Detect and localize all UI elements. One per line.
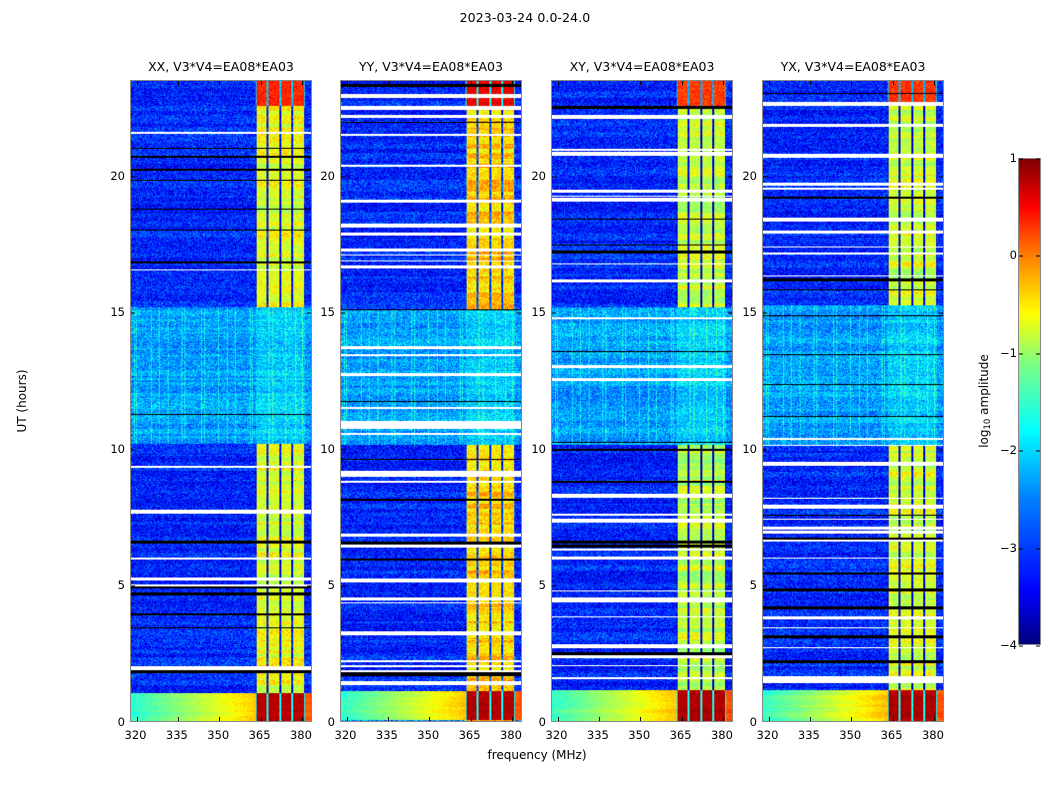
x-tick-mark xyxy=(219,717,220,721)
y-tick-label: 5 xyxy=(328,578,335,592)
colorbar-tick-mark xyxy=(1019,159,1023,160)
x-tick-mark xyxy=(347,81,348,85)
panel-yy[interactable]: YY, V3*V4=EA08*EA03 05101520320335350365… xyxy=(340,80,522,722)
colorbar-gradient xyxy=(1018,158,1041,645)
panel-yx[interactable]: YX, V3*V4=EA08*EA03 05101520320335350365… xyxy=(762,80,944,722)
x-tick-mark xyxy=(302,717,303,721)
y-tick-mark xyxy=(517,313,521,314)
colorbar-tick-mark xyxy=(1036,353,1040,354)
y-tick-mark xyxy=(131,449,135,450)
y-tick-mark xyxy=(341,313,345,314)
y-tick-label: 0 xyxy=(328,715,335,729)
x-tick-mark xyxy=(261,81,262,85)
x-tick-mark xyxy=(512,81,513,85)
x-tick-mark xyxy=(893,81,894,85)
panel-xx[interactable]: XX, V3*V4=EA08*EA03 05101520320335350365… xyxy=(130,80,312,722)
x-tick-mark xyxy=(219,81,220,85)
y-tick-label: 20 xyxy=(742,169,757,183)
x-tick-mark xyxy=(851,717,852,721)
x-tick-mark xyxy=(723,81,724,85)
x-tick-mark xyxy=(599,81,600,85)
x-tick-label: 335 xyxy=(376,728,398,742)
colorbar-tick-mark xyxy=(1036,451,1040,452)
x-tick-mark xyxy=(429,717,430,721)
y-tick-mark xyxy=(131,176,135,177)
colorbar-tick-mark xyxy=(1019,353,1023,354)
axes-xy[interactable] xyxy=(551,80,733,722)
heatmap-image-yy xyxy=(341,81,521,721)
x-tick-mark xyxy=(429,81,430,85)
panel-title-xy: XY, V3*V4=EA08*EA03 xyxy=(551,59,733,74)
y-tick-label: 15 xyxy=(531,305,546,319)
y-tick-label: 5 xyxy=(118,578,125,592)
y-tick-label: 5 xyxy=(539,578,546,592)
y-tick-mark xyxy=(728,449,732,450)
x-tick-mark xyxy=(682,717,683,721)
colorbar[interactable]: 10−1−2−3−4 xyxy=(1018,158,1041,645)
colorbar-tick-mark xyxy=(1036,646,1040,647)
x-tick-mark xyxy=(137,81,138,85)
y-tick-mark xyxy=(939,586,943,587)
y-tick-mark xyxy=(307,176,311,177)
x-tick-mark xyxy=(810,81,811,85)
x-tick-mark xyxy=(388,717,389,721)
x-tick-mark xyxy=(558,81,559,85)
x-tick-label: 365 xyxy=(670,728,692,742)
heatmap-image-xy xyxy=(552,81,732,721)
y-tick-label: 20 xyxy=(531,169,546,183)
colorbar-tick-mark xyxy=(1019,548,1023,549)
x-tick-label: 335 xyxy=(166,728,188,742)
y-tick-label: 10 xyxy=(742,442,757,456)
panel-title-yx: YX, V3*V4=EA08*EA03 xyxy=(762,59,944,74)
y-axis-label: UT (hours) xyxy=(15,369,29,432)
colorbar-label: log10 amplitude xyxy=(977,354,993,448)
axes-yy[interactable] xyxy=(340,80,522,722)
x-tick-label: 380 xyxy=(922,728,944,742)
y-tick-mark xyxy=(307,313,311,314)
colorbar-label-tail: amplitude xyxy=(977,354,991,418)
y-tick-mark xyxy=(763,586,767,587)
y-tick-mark xyxy=(728,313,732,314)
x-tick-mark xyxy=(471,717,472,721)
x-axis-label: frequency (MHz) xyxy=(487,748,586,762)
y-tick-mark xyxy=(517,176,521,177)
figure-title: 2023-03-24 0.0-24.0 xyxy=(0,10,1050,25)
x-tick-label: 380 xyxy=(500,728,522,742)
colorbar-tick-label: 0 xyxy=(987,248,1017,262)
y-tick-mark xyxy=(307,449,311,450)
x-tick-label: 365 xyxy=(881,728,903,742)
figure-canvas: 2023-03-24 0.0-24.0 XX, V3*V4=EA08*EA03 … xyxy=(0,0,1050,800)
y-tick-mark xyxy=(307,586,311,587)
colorbar-tick-mark xyxy=(1036,548,1040,549)
colorbar-tick-mark xyxy=(1019,646,1023,647)
x-tick-mark xyxy=(640,81,641,85)
axes-yx[interactable] xyxy=(762,80,944,722)
y-tick-label: 10 xyxy=(110,442,125,456)
y-tick-mark xyxy=(939,313,943,314)
x-tick-mark xyxy=(851,81,852,85)
colorbar-label-sub: 10 xyxy=(983,419,993,430)
x-tick-mark xyxy=(810,717,811,721)
x-tick-label: 320 xyxy=(546,728,568,742)
y-tick-label: 20 xyxy=(320,169,335,183)
x-tick-label: 335 xyxy=(798,728,820,742)
x-tick-mark xyxy=(599,717,600,721)
panel-title-xx: XX, V3*V4=EA08*EA03 xyxy=(130,59,312,74)
x-tick-label: 380 xyxy=(290,728,312,742)
colorbar-tick-label: −3 xyxy=(987,541,1017,555)
x-tick-mark xyxy=(261,717,262,721)
y-tick-mark xyxy=(939,176,943,177)
x-tick-mark xyxy=(934,81,935,85)
y-tick-mark xyxy=(341,176,345,177)
x-tick-mark xyxy=(471,81,472,85)
colorbar-label-main: log xyxy=(977,429,991,447)
y-tick-mark xyxy=(341,449,345,450)
colorbar-tick-mark xyxy=(1036,256,1040,257)
panel-xy[interactable]: XY, V3*V4=EA08*EA03 05101520320335350365… xyxy=(551,80,733,722)
y-tick-mark xyxy=(763,313,767,314)
heatmap-image-yx xyxy=(763,81,943,721)
y-tick-label: 0 xyxy=(118,715,125,729)
y-tick-label: 15 xyxy=(320,305,335,319)
x-tick-label: 320 xyxy=(757,728,779,742)
y-tick-mark xyxy=(517,449,521,450)
axes-xx[interactable] xyxy=(130,80,312,722)
y-tick-label: 0 xyxy=(750,715,757,729)
x-tick-label: 350 xyxy=(417,728,439,742)
y-tick-mark xyxy=(552,586,556,587)
y-tick-mark xyxy=(552,449,556,450)
x-tick-mark xyxy=(893,717,894,721)
y-tick-mark xyxy=(728,176,732,177)
y-tick-mark xyxy=(131,586,135,587)
y-tick-mark xyxy=(131,313,135,314)
x-tick-label: 320 xyxy=(125,728,147,742)
y-tick-label: 15 xyxy=(110,305,125,319)
colorbar-tick-label: 1 xyxy=(987,151,1017,165)
y-tick-label: 20 xyxy=(110,169,125,183)
colorbar-tick-mark xyxy=(1036,159,1040,160)
x-tick-mark xyxy=(723,717,724,721)
panel-title-yy: YY, V3*V4=EA08*EA03 xyxy=(340,59,522,74)
x-tick-label: 320 xyxy=(335,728,357,742)
x-tick-label: 350 xyxy=(628,728,650,742)
x-tick-label: 350 xyxy=(839,728,861,742)
x-tick-label: 365 xyxy=(249,728,271,742)
x-tick-label: 335 xyxy=(587,728,609,742)
x-tick-mark xyxy=(137,717,138,721)
x-tick-label: 350 xyxy=(207,728,229,742)
y-tick-mark xyxy=(552,176,556,177)
y-tick-label: 0 xyxy=(539,715,546,729)
y-tick-mark xyxy=(763,176,767,177)
x-tick-label: 380 xyxy=(711,728,733,742)
y-tick-mark xyxy=(763,449,767,450)
x-tick-mark xyxy=(682,81,683,85)
x-tick-mark xyxy=(769,717,770,721)
x-tick-mark xyxy=(302,81,303,85)
colorbar-tick-mark xyxy=(1019,451,1023,452)
y-tick-mark xyxy=(517,586,521,587)
y-tick-label: 15 xyxy=(742,305,757,319)
x-tick-mark xyxy=(388,81,389,85)
x-tick-mark xyxy=(640,717,641,721)
y-tick-label: 10 xyxy=(320,442,335,456)
x-tick-mark xyxy=(347,717,348,721)
x-tick-mark xyxy=(178,717,179,721)
x-tick-mark xyxy=(934,717,935,721)
colorbar-tick-label: −4 xyxy=(987,638,1017,652)
y-tick-label: 10 xyxy=(531,442,546,456)
y-tick-mark xyxy=(552,313,556,314)
x-tick-mark xyxy=(558,717,559,721)
heatmap-image-xx xyxy=(131,81,311,721)
y-tick-label: 5 xyxy=(750,578,757,592)
x-tick-mark xyxy=(512,717,513,721)
y-tick-mark xyxy=(939,449,943,450)
x-tick-mark xyxy=(178,81,179,85)
y-tick-mark xyxy=(341,586,345,587)
x-tick-label: 365 xyxy=(459,728,481,742)
colorbar-tick-mark xyxy=(1019,256,1023,257)
x-tick-mark xyxy=(769,81,770,85)
y-tick-mark xyxy=(728,586,732,587)
